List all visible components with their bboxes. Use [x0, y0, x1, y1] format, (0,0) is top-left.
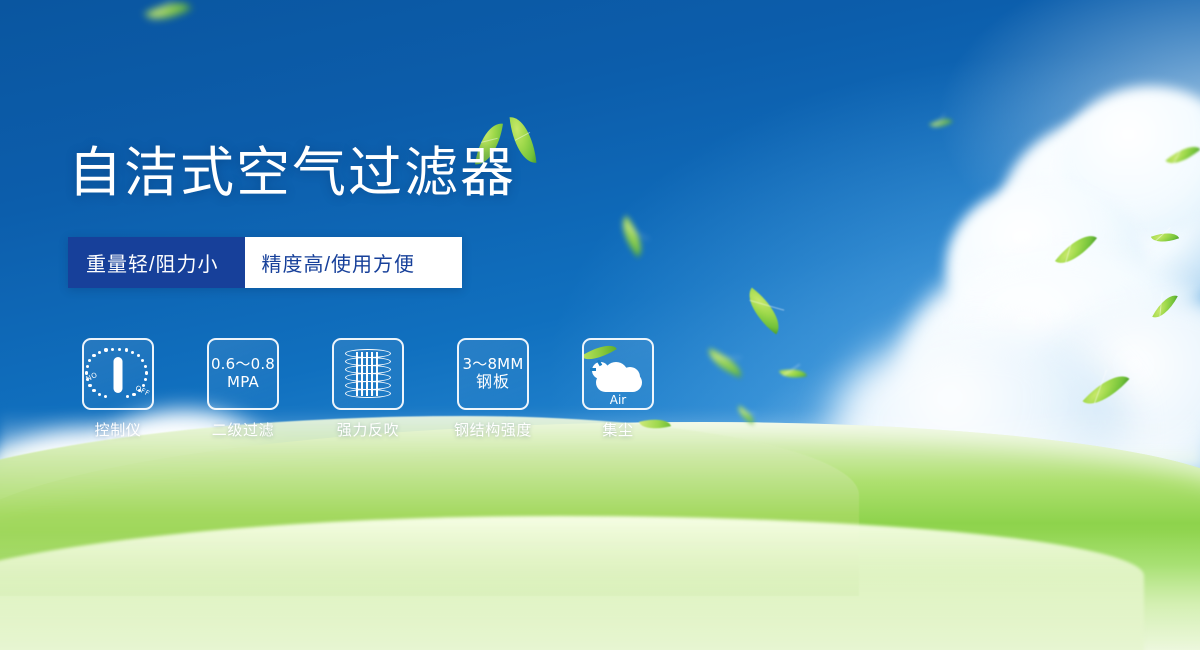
filter-cartridge-icon [345, 348, 391, 400]
feature-icon-box: 3～8MM 钢板 [457, 338, 529, 410]
pressure-line2: MPA [227, 374, 259, 392]
product-banner: 自洁式空气过滤器 重量轻/阻力小 精度高/使用方便 [0, 0, 1200, 650]
slogan-left: 重量轻/阻力小 [68, 237, 245, 288]
slogan-bar: 重量轻/阻力小 精度高/使用方便 [68, 237, 462, 288]
cloud-shape [1060, 86, 1200, 236]
cloud-shape [946, 182, 1146, 352]
feature-label: 控制仪 [95, 419, 142, 440]
floating-leaf [1055, 226, 1097, 272]
banner-content: 自洁式空气过滤器 重量轻/阻力小 精度高/使用方便 [68, 0, 768, 650]
feature-icon-box: NO OFF [82, 338, 154, 410]
floating-leaf [929, 113, 953, 133]
cloud-air-icon: Air [590, 358, 646, 392]
floating-leaf [1083, 365, 1130, 414]
cloud-shape [1000, 112, 1200, 312]
feature-list: NO OFF 控制仪 0.6～0.8 MPA 二级过滤 [82, 338, 654, 440]
floating-leaf [779, 365, 807, 381]
feature-label: 二级过滤 [212, 419, 274, 440]
feature-icon-box: 0.6～0.8 MPA [207, 338, 279, 410]
steel-line1: 3～8MM [463, 356, 524, 374]
feature-item-filtration[interactable]: 0.6～0.8 MPA 二级过滤 [207, 338, 279, 440]
slogan-right: 精度高/使用方便 [225, 237, 462, 288]
gauge-needle [114, 357, 123, 393]
feature-label: 集尘 [602, 419, 633, 440]
gauge-icon: NO OFF [87, 345, 149, 403]
feature-item-steel[interactable]: 3～8MM 钢板 钢结构强度 [457, 338, 529, 440]
feature-item-control[interactable]: NO OFF 控制仪 [82, 338, 154, 440]
feature-icon-box: Air [582, 338, 654, 410]
steel-line2: 钢板 [476, 373, 510, 392]
gauge-off-label: OFF [134, 384, 151, 398]
feature-item-backblow[interactable]: 强力反吹 [332, 338, 404, 440]
feature-icon-box [332, 338, 404, 410]
page-title: 自洁式空气过滤器 [68, 146, 516, 200]
floating-leaf [1152, 290, 1178, 323]
pressure-line1: 0.6～0.8 [211, 356, 275, 374]
cloud-air-label: Air [590, 393, 646, 407]
floating-leaf [1151, 228, 1179, 247]
feature-label: 钢结构强度 [454, 419, 532, 440]
cloud-base [596, 373, 642, 392]
floating-leaf [1165, 139, 1200, 172]
feature-label: 强力反吹 [337, 419, 399, 440]
